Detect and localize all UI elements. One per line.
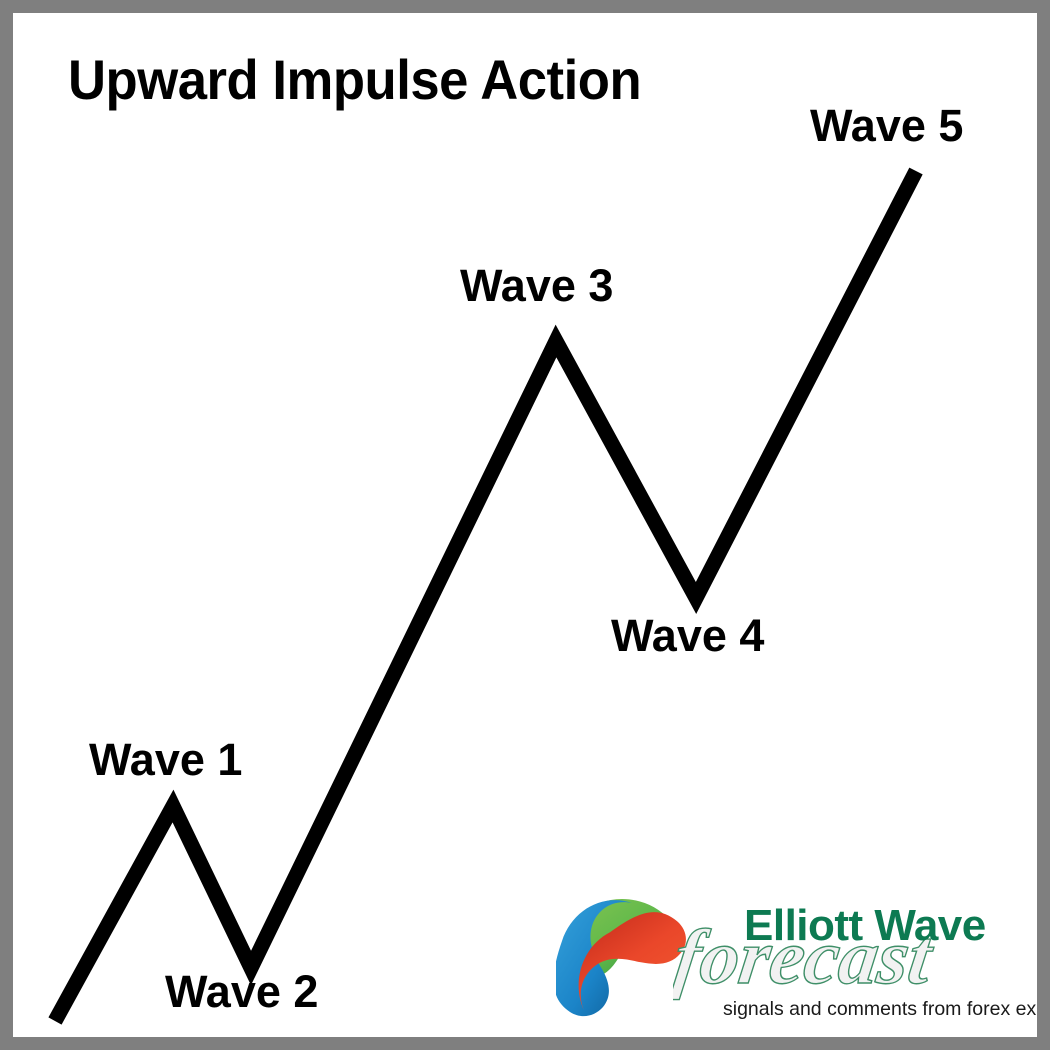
image-frame: Upward Impulse Action Wave 1 Wave 2 Wave…: [0, 0, 1050, 1050]
brand-tagline-text: signals and comments from forex experts: [723, 998, 1037, 1021]
brand-name-text: Elliott Wave: [744, 901, 986, 951]
brand-logo: Elliott Wave forecast signals and commen…: [546, 885, 1036, 1035]
wave-4-label: Wave 4: [611, 610, 764, 662]
brand-wordmark: Elliott Wave forecast signals and commen…: [691, 885, 1036, 1035]
triskelion-swirl-icon: [556, 895, 688, 1027]
chart-canvas: Upward Impulse Action Wave 1 Wave 2 Wave…: [13, 13, 1037, 1037]
wave-1-label: Wave 1: [89, 734, 242, 786]
impulse-wave-chart: [13, 13, 1037, 1037]
wave-2-label: Wave 2: [165, 966, 318, 1018]
wave-5-label: Wave 5: [810, 100, 963, 152]
wave-3-label: Wave 3: [460, 260, 613, 312]
